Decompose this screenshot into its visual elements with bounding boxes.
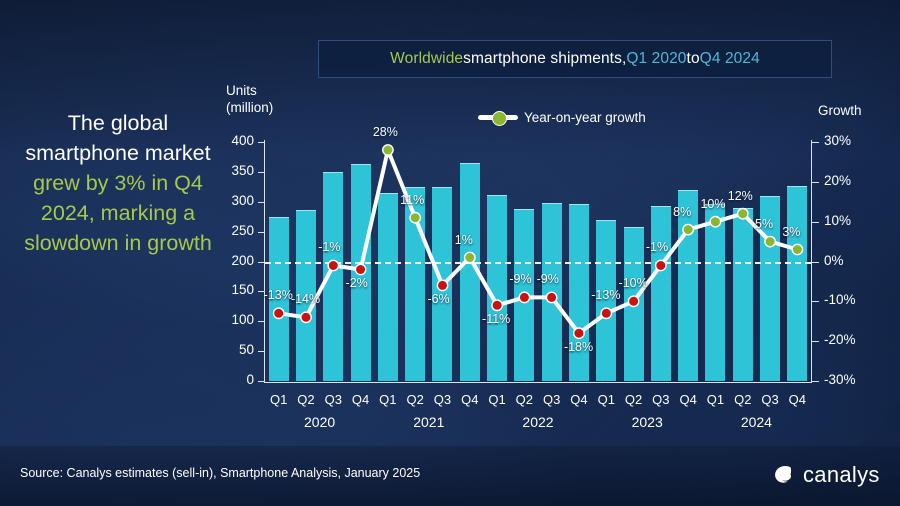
headline-text: The global smartphone market grew by 3% … [14, 108, 222, 258]
right-axis-tick-label: 30% [824, 133, 876, 148]
left-tick [258, 262, 265, 263]
x-axis-quarter-label: Q1 [592, 392, 620, 407]
bottom-axis-line [264, 382, 812, 383]
x-axis-year-label: 2023 [592, 414, 702, 430]
x-axis-quarter-label: Q4 [674, 392, 702, 407]
growth-label-2020-Q1: -13% [264, 288, 293, 302]
x-axis-quarter-label: Q3 [538, 392, 566, 407]
growth-point-2020-Q3 [328, 260, 338, 270]
left-axis-tick-label: 250 [208, 223, 254, 238]
title-part-worldwide: Worldwide [390, 50, 463, 68]
left-tick [258, 232, 265, 233]
growth-label-2021-Q2: 11% [400, 193, 424, 207]
x-axis-quarter-label: Q3 [319, 392, 347, 407]
left-axis-tick-label: 50 [208, 342, 254, 357]
growth-label-2022-Q2: -9% [509, 272, 531, 286]
left-axis-tick-label: 350 [208, 163, 254, 178]
right-axis-tick-label: -30% [824, 372, 876, 387]
x-axis-quarter-label: Q2 [292, 392, 320, 407]
left-axis-tick-label: 200 [208, 253, 254, 268]
growth-point-2023-Q4 [683, 224, 693, 234]
growth-point-2021-Q2 [410, 213, 420, 223]
left-axis-caption-line1: Units [226, 82, 273, 99]
growth-point-2021-Q4 [465, 252, 475, 262]
left-tick [258, 172, 265, 173]
chart-screenshot: Worldwide smartphone shipments, Q1 2020 … [0, 0, 900, 506]
x-axis-year-label: 2021 [374, 414, 484, 430]
growth-label-2022-Q4: -18% [564, 340, 593, 354]
x-axis-quarter-label: Q4 [565, 392, 593, 407]
left-tick [258, 321, 265, 322]
growth-point-2023-Q2 [628, 296, 638, 306]
left-axis-tick-label: 300 [208, 193, 254, 208]
growth-line-series [265, 142, 811, 381]
growth-point-2020-Q1 [274, 308, 284, 318]
growth-label-2020-Q4: -2% [346, 276, 368, 290]
growth-point-2022-Q2 [519, 292, 529, 302]
legend-line-marker [478, 115, 518, 120]
title-part-start-quarter: Q1 2020 [626, 50, 686, 68]
left-axis-tick-label: 0 [208, 372, 254, 387]
canalys-mark-icon [770, 462, 796, 488]
right-axis-tick-label: 10% [824, 213, 876, 228]
growth-label-2024-Q2: 12% [728, 189, 753, 203]
title-part-end-quarter: Q4 2024 [700, 50, 760, 68]
growth-label-2022-Q3: -9% [537, 272, 559, 286]
headline-green: grew by 3% in Q4 2024, marking a slowdow… [24, 171, 212, 255]
left-axis-tick-label: 400 [208, 133, 254, 148]
x-axis-quarter-label: Q1 [374, 392, 402, 407]
growth-point-2024-Q3 [765, 236, 775, 246]
x-axis-quarter-label: Q4 [347, 392, 375, 407]
growth-point-2023-Q1 [601, 308, 611, 318]
growth-label-2024-Q1: 10% [700, 197, 725, 211]
title-part-middle: smartphone shipments, [463, 50, 626, 68]
left-tick [258, 142, 265, 143]
growth-point-2024-Q2 [738, 209, 748, 219]
x-axis-quarter-label: Q2 [510, 392, 538, 407]
legend-dot-icon [492, 111, 507, 126]
canalys-wordmark: canalys [803, 462, 880, 488]
growth-label-2020-Q2: -14% [291, 292, 320, 306]
legend: Year-on-year growth [478, 110, 646, 125]
growth-label-2024-Q4: 3% [782, 225, 800, 239]
right-tick [812, 381, 819, 382]
x-axis-quarter-label: Q1 [483, 392, 511, 407]
x-axis-year-label: 2020 [265, 414, 375, 430]
growth-point-2021-Q3 [437, 280, 447, 290]
x-axis-quarter-label: Q3 [756, 392, 784, 407]
x-axis-quarter-label: Q1 [265, 392, 293, 407]
left-axis-tick-label: 150 [208, 282, 254, 297]
right-tick [812, 222, 819, 223]
growth-point-2024-Q1 [710, 217, 720, 227]
growth-label-2021-Q4: 1% [455, 233, 473, 247]
x-axis-quarter-label: Q2 [620, 392, 648, 407]
right-tick [812, 142, 819, 143]
x-axis-quarter-label: Q2 [729, 392, 757, 407]
growth-point-2020-Q2 [301, 312, 311, 322]
x-axis-year-label: 2022 [483, 414, 593, 430]
growth-point-2023-Q3 [656, 260, 666, 270]
growth-label-2022-Q1: -11% [482, 312, 510, 326]
x-axis-quarter-label: Q3 [647, 392, 675, 407]
canalys-logo: canalys [770, 462, 880, 488]
right-axis-tick-label: 0% [824, 253, 876, 268]
growth-label-2023-Q3: -1% [646, 240, 668, 254]
x-axis-quarter-label: Q4 [783, 392, 811, 407]
growth-point-2022-Q3 [546, 292, 556, 302]
left-tick [258, 381, 265, 382]
title-part-to: to [687, 50, 700, 68]
right-tick [812, 301, 819, 302]
growth-point-2022-Q1 [492, 300, 502, 310]
left-axis-caption: Units (million) [226, 82, 273, 116]
growth-point-2024-Q4 [792, 244, 802, 254]
growth-point-2020-Q4 [355, 264, 365, 274]
right-tick [812, 341, 819, 342]
growth-label-2023-Q1: -13% [591, 288, 620, 302]
right-tick [812, 262, 819, 263]
right-axis-tick-label: -10% [824, 292, 876, 307]
right-axis-tick-label: -20% [824, 332, 876, 347]
growth-label-2023-Q2: -10% [619, 276, 648, 290]
growth-label-2021-Q3: -6% [427, 292, 449, 306]
growth-label-2021-Q1: 28% [373, 125, 398, 139]
growth-point-2022-Q4 [574, 328, 584, 338]
growth-label-2023-Q4: 8% [673, 205, 691, 219]
growth-label-2024-Q3: 5% [755, 217, 773, 231]
right-axis-tick-label: 20% [824, 173, 876, 188]
x-axis-quarter-label: Q1 [701, 392, 729, 407]
growth-point-2021-Q1 [383, 145, 393, 155]
chart-title: Worldwide smartphone shipments, Q1 2020 … [318, 40, 832, 78]
left-tick [258, 202, 265, 203]
right-tick [812, 182, 819, 183]
headline-white: The global smartphone market [25, 111, 210, 165]
left-tick [258, 351, 265, 352]
source-note: Source: Canalys estimates (sell-in), Sma… [20, 466, 420, 480]
growth-label-2020-Q3: -1% [318, 240, 340, 254]
x-axis-quarter-label: Q3 [428, 392, 456, 407]
left-axis-caption-line2: (million) [226, 99, 273, 116]
x-axis-quarter-label: Q2 [401, 392, 429, 407]
growth-line-path [279, 150, 798, 333]
right-axis-caption: Growth [818, 103, 862, 118]
x-axis-quarter-label: Q4 [456, 392, 484, 407]
x-axis-year-label: 2024 [701, 414, 811, 430]
left-axis-tick-label: 100 [208, 312, 254, 327]
legend-label: Year-on-year growth [524, 110, 646, 125]
